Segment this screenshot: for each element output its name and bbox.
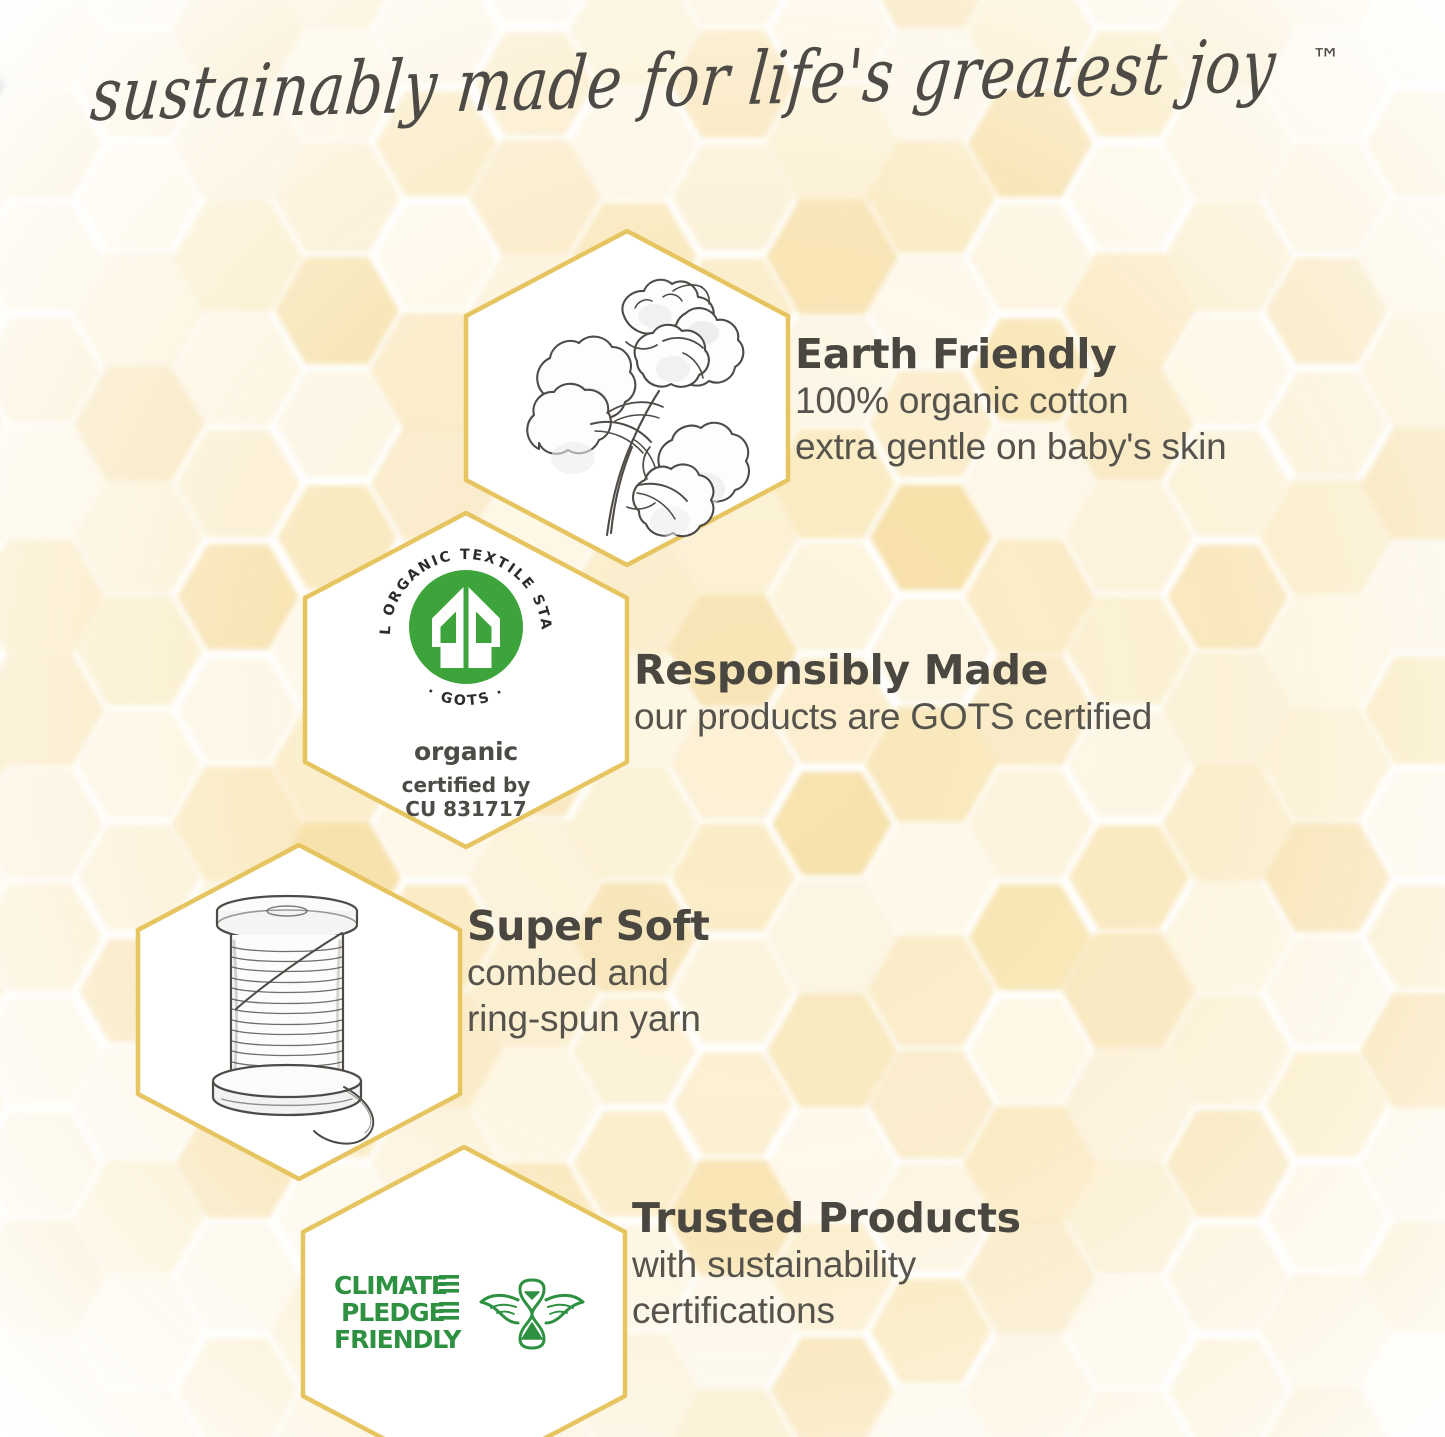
- honeycomb-cell: [76, 596, 203, 706]
- honeycomb-cell: [772, 0, 893, 82]
- honeycomb-cell: [570, 88, 698, 199]
- honeycomb-cell: [474, 0, 596, 23]
- hex-card-trusted-products: CLIMATE PLEDGE FRIENDLY: [300, 1144, 628, 1437]
- honeycomb-cell: [1065, 482, 1193, 593]
- honeycomb-cell: [0, 1049, 5, 1159]
- feature-title: Trusted Products: [632, 1196, 1021, 1242]
- honeycomb-cell: [772, 772, 892, 876]
- honeycomb-cell: [74, 481, 204, 593]
- honeycomb-cell: [0, 425, 107, 542]
- honeycomb-cell: [1066, 1276, 1193, 1386]
- honeycomb-cell: [1166, 1110, 1291, 1218]
- honeycomb-cell: [970, 998, 1091, 1103]
- honeycomb-cell: [0, 1220, 107, 1336]
- feature-desc-line-1: combed and: [467, 950, 710, 996]
- honeycomb-cell: [374, 0, 499, 84]
- honeycomb-cell: [1266, 1051, 1388, 1157]
- honeycomb-cell: [1262, 0, 1393, 27]
- honeycomb-cell: [1265, 257, 1388, 364]
- honeycomb-cell: [1161, 652, 1296, 769]
- gots-ring-mark: · GOTS ·: [424, 683, 507, 709]
- honeycomb-cell: [178, 1338, 299, 1437]
- honeycomb-cell: [1165, 995, 1292, 1105]
- climate-pledge-friendly-icon: CLIMATE PLEDGE FRIENDLY: [334, 1269, 586, 1359]
- cotton-flower-icon: [487, 253, 767, 543]
- honeycomb-cell: [0, 540, 106, 654]
- winged-hourglass-icon: [478, 1273, 586, 1355]
- honeycomb-cell: [1361, 1107, 1445, 1220]
- honeycomb-cell: [765, 879, 898, 994]
- honeycomb-cell: [669, 1389, 797, 1437]
- honeycomb-cell: [1267, 1166, 1387, 1270]
- honeycomb-cell: [276, 371, 398, 477]
- feature-desc-line-1: our products are GOTS certified: [634, 694, 1152, 740]
- honeycomb-cell: [0, 0, 1, 22]
- honeycomb-cell: [864, 0, 999, 29]
- honeycomb-cell: [1262, 1388, 1393, 1437]
- gots-seal-icon: GLOBAL ORGANIC TEXTILE STANDARD · GOTS ·: [366, 527, 566, 727]
- honeycomb-cell: [77, 30, 200, 137]
- honeycomb-cell: [967, 0, 1094, 85]
- honeycomb-cell: [273, 142, 400, 252]
- honeycomb-cell: [1163, 87, 1294, 200]
- honeycomb-cell: [865, 27, 997, 141]
- feature-desc-line-2: certifications: [632, 1288, 1021, 1334]
- honeycomb-cell: [1069, 825, 1190, 930]
- honeycomb-cell: [1360, 313, 1445, 427]
- honeycomb-cell: [0, 654, 105, 766]
- feature-title: Responsibly Made: [634, 648, 1152, 694]
- honeycomb-cell: [1366, 91, 1445, 196]
- honeycomb-cell: [0, 1278, 2, 1384]
- honeycomb-cell: [1364, 656, 1445, 764]
- honeycomb-cell: [965, 1335, 1095, 1437]
- honeycomb-cell: [72, 252, 207, 369]
- honeycomb-cell: [1067, 0, 1192, 24]
- honeycomb-cell: [968, 884, 1091, 991]
- honeycomb-cell: [1261, 593, 1393, 707]
- honeycomb-cell: [1168, 545, 1289, 650]
- honeycomb-cell: [475, 32, 595, 136]
- honeycomb-cell: [1167, 1224, 1289, 1330]
- honeycomb-cell: [569, 0, 700, 87]
- honeycomb-cell: [1168, 1339, 1288, 1437]
- honeycomb-cell: [866, 821, 997, 934]
- honeycomb-cell: [1068, 31, 1190, 137]
- honeycomb-cell: [0, 769, 104, 879]
- honeycomb-cell: [1161, 0, 1294, 88]
- honeycomb-cell: [0, 1393, 1, 1437]
- honeycomb-cell: [670, 29, 796, 138]
- headline-script-text: sustainably made for life's greatest joy: [87, 23, 1280, 138]
- honeycomb-cell: [176, 430, 301, 538]
- feature-desc-line-2: extra gentle on baby's skin: [795, 424, 1227, 470]
- honeycomb-cell: [868, 1050, 994, 1159]
- honeycomb-cell: [275, 257, 400, 365]
- honeycomb-cell: [967, 769, 1093, 878]
- honeycomb-cell: [0, 706, 8, 823]
- honeycomb-cell: [770, 1337, 893, 1437]
- honeycomb-cell: [271, 0, 403, 28]
- honeycomb-cell: [1069, 145, 1189, 249]
- cpf-line-2: PLEDGE: [341, 1298, 445, 1327]
- feature-desc-line-2: ring-spun yarn: [467, 996, 710, 1042]
- honeycomb-cell: [0, 203, 102, 310]
- honeycomb-cell: [0, 0, 104, 86]
- honeycomb-cell: [1260, 479, 1395, 596]
- honeycomb-cell: [1363, 1336, 1445, 1437]
- honeycomb-cell: [1063, 1047, 1195, 1161]
- honeycomb-cell: [969, 204, 1091, 310]
- honeycomb-cell: [1365, 771, 1445, 877]
- honeycomb-cell: [77, 710, 202, 818]
- honeycomb-cell: [1163, 881, 1293, 993]
- honeycomb-cell: [0, 484, 3, 591]
- honeycomb-cell: [1364, 0, 1445, 83]
- gots-certified-by: certified by: [402, 773, 531, 797]
- honeycomb-cell: [75, 1275, 203, 1386]
- honeycomb-cell: [1264, 822, 1391, 932]
- honeycomb-cell: [1366, 885, 1445, 989]
- honeycomb-cell: [172, 86, 304, 200]
- honeycomb-cell: [1359, 993, 1445, 1108]
- honeycomb-cell: [272, 28, 402, 140]
- honeycomb-cell: [1363, 542, 1445, 652]
- thread-spool-icon: [174, 875, 424, 1150]
- honeycomb-cell: [0, 1334, 105, 1437]
- honeycomb-cell: [864, 1386, 999, 1437]
- honeycomb-cell: [0, 318, 100, 423]
- honeycomb-cell: [174, 315, 301, 425]
- gots-green-disc: [409, 570, 523, 684]
- honeycomb-cell: [1362, 1222, 1445, 1333]
- honeycomb-cell: [0, 26, 8, 141]
- honeycomb-cell: [0, 89, 103, 198]
- honeycomb-cell: [1359, 199, 1445, 316]
- honeycomb-cell: [1260, 1273, 1393, 1389]
- page-headline: sustainably made for life's greatest joy…: [0, 34, 1445, 157]
- hex-card-responsibly-made: GLOBAL ORGANIC TEXTILE STANDARD · GOTS ·…: [302, 510, 630, 850]
- honeycomb-cell: [867, 935, 995, 1046]
- feature-desc-line-1: 100% organic cotton: [795, 378, 1227, 424]
- honeycomb-cell: [176, 1224, 299, 1331]
- feature-text-earth-friendly: Earth Friendly 100% organic cotton extra…: [795, 332, 1227, 470]
- honeycomb-cell: [173, 201, 303, 313]
- honeycomb-cell: [1267, 372, 1388, 477]
- honeycomb-cell: [1265, 937, 1390, 1045]
- honeycomb-cell: [965, 540, 1096, 653]
- feature-text-responsibly-made: Responsibly Made our products are GOTS c…: [634, 648, 1152, 740]
- climate-pledge-wordmark: CLIMATE PLEDGE FRIENDLY: [334, 1269, 464, 1359]
- honeycomb-cell: [1162, 767, 1294, 881]
- feature-title: Super Soft: [467, 904, 710, 950]
- honeycomb-cell: [0, 1164, 3, 1272]
- honeycomb-cell: [1263, 28, 1391, 139]
- honeycomb-cell: [0, 140, 6, 253]
- honeycomb-cell: [1067, 1390, 1192, 1437]
- honeycomb-cell: [870, 484, 992, 590]
- honeycomb-cell: [968, 89, 1093, 197]
- honeycomb-cell: [0, 883, 102, 991]
- honeycomb-cell: [0, 820, 7, 934]
- honeycomb-cell: [1062, 933, 1197, 1050]
- honeycomb-cell: [73, 367, 205, 481]
- honeycomb-cell: [0, 935, 6, 1047]
- honeycomb-cell: [1262, 708, 1392, 820]
- feature-desc-line-1: with sustainability: [632, 1242, 1021, 1288]
- honeycomb-cell: [1361, 427, 1445, 539]
- infographic-page: sustainably made for life's greatest joy…: [0, 0, 1445, 1437]
- honeycomb-cell: [0, 998, 101, 1104]
- honeycomb-cell: [375, 91, 497, 197]
- gots-certification-icon: GLOBAL ORGANIC TEXTILE STANDARD · GOTS ·…: [366, 527, 566, 822]
- honeycomb-cell: [76, 1390, 202, 1437]
- honeycomb-cell: [0, 1112, 100, 1216]
- honeycomb-cell: [0, 598, 1, 703]
- honeycomb-cell: [767, 994, 898, 1107]
- honeycomb-cell: [0, 369, 4, 478]
- honeycomb-cell: [178, 659, 298, 763]
- honeycomb-cell: [79, 145, 200, 250]
- gots-certifier-code: CU 831717: [402, 797, 531, 821]
- honeycomb-cell: [1064, 1162, 1194, 1274]
- feature-text-trusted-products: Trusted Products with sustainability cer…: [632, 1196, 1021, 1334]
- honeycomb-cell: [1264, 143, 1390, 252]
- honeycomb-cell: [177, 544, 299, 650]
- honeycomb-cell: [669, 0, 797, 26]
- honeycomb-cell: [76, 0, 202, 25]
- feature-title: Earth Friendly: [795, 332, 1227, 378]
- honeycomb-cell: [673, 1052, 793, 1156]
- honeycomb-cell: [171, 0, 306, 88]
- gots-organic-label: organic: [414, 737, 518, 766]
- honeycomb-cell: [765, 85, 900, 202]
- trademark-symbol: ™: [1311, 43, 1341, 78]
- honeycomb-cell: [1164, 201, 1292, 312]
- cpf-line-1: CLIMATE: [334, 1271, 447, 1300]
- honeycomb-cell: [0, 255, 5, 366]
- feature-text-super-soft: Super Soft combed and ring-spun yarn: [467, 904, 710, 1042]
- cpf-line-3: FRIENDLY: [334, 1325, 462, 1354]
- hex-card-super-soft: [135, 842, 463, 1182]
- honeycomb-cell: [866, 141, 996, 253]
